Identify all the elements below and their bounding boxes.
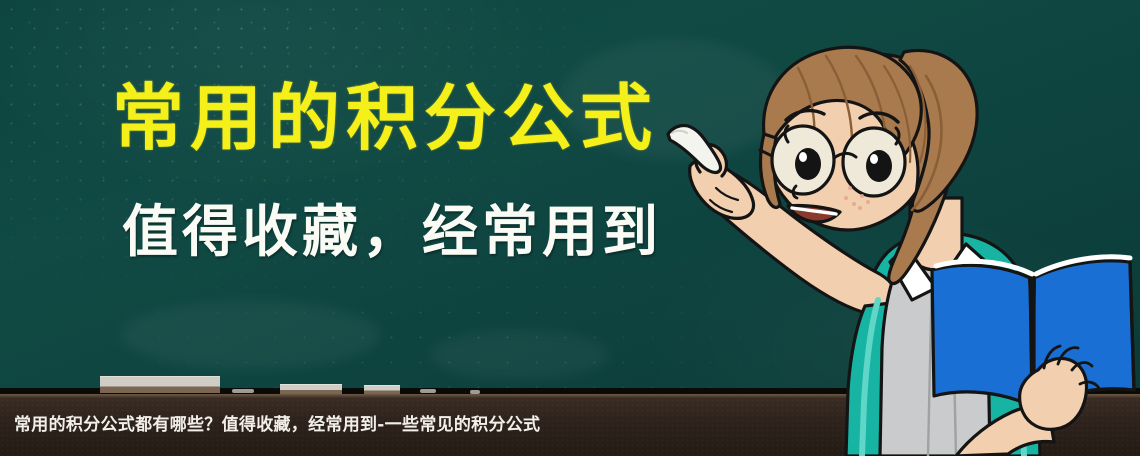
- caption-text: 常用的积分公式都有哪些？值得收藏，经常用到-一些常见的积分公式: [14, 410, 540, 435]
- chalk-smudge-3: [430, 330, 610, 380]
- eraser-large: [100, 376, 220, 393]
- poster-title: 常用的积分公式: [112, 82, 658, 154]
- chalk-smudge-2: [120, 300, 380, 370]
- female-teacher-illustration: [660, 38, 1140, 456]
- chalk-piece-1: [232, 389, 254, 393]
- poster-canvas: 常用的积分公式 值得收藏，经常用到: [0, 0, 1140, 456]
- chalk-piece-3: [470, 390, 480, 394]
- eraser-medium: [280, 384, 342, 394]
- poster-subtitle: 值得收藏，经常用到: [122, 204, 662, 260]
- chalk-piece-2: [420, 389, 436, 393]
- eraser-small: [364, 385, 400, 394]
